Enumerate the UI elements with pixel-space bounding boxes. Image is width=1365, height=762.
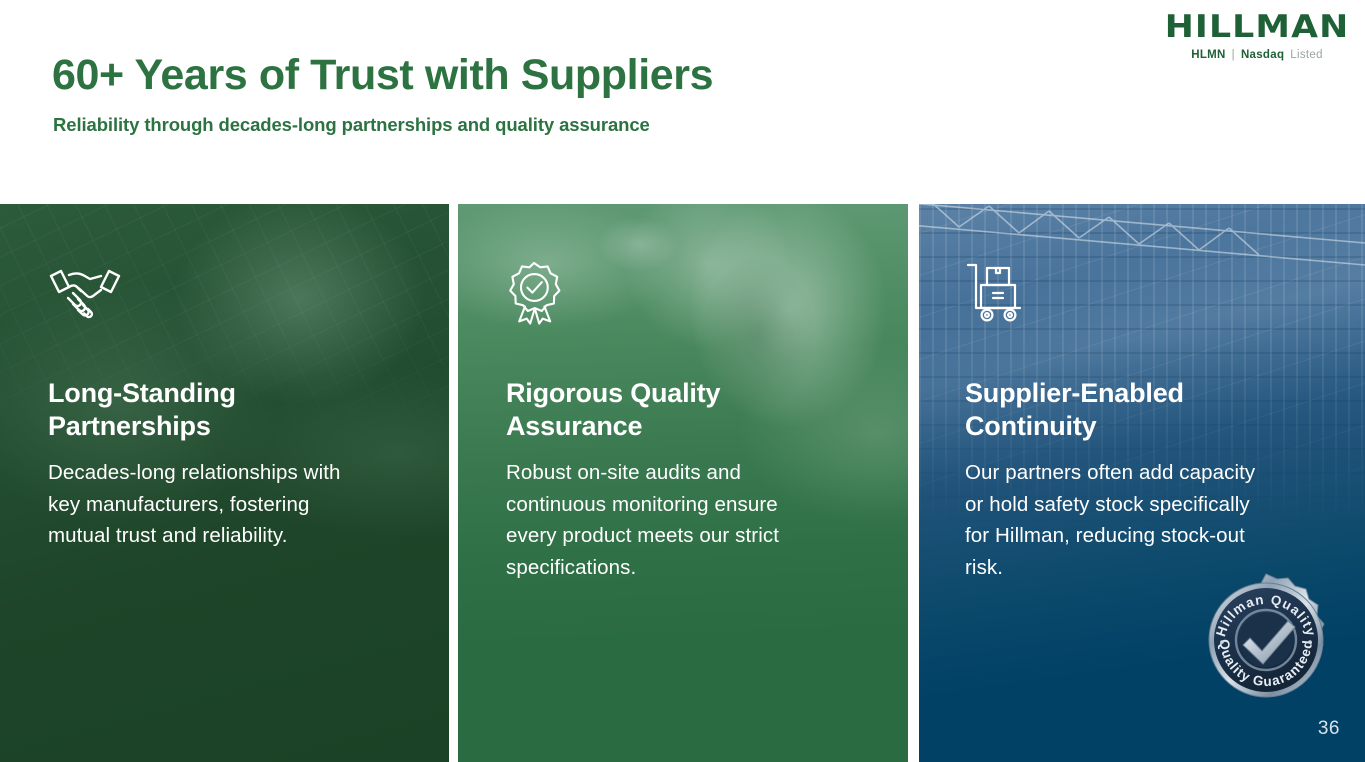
card-body-text: Decades-long relationships with key manu…: [48, 457, 348, 552]
quality-badge-icon: [506, 260, 562, 326]
card-title: Rigorous Quality Assurance: [506, 377, 836, 443]
card-body-text: Our partners often add capacity or hold …: [965, 457, 1265, 584]
page-subtitle: Reliability through decades-long partner…: [53, 114, 650, 136]
page-number: 36: [1318, 718, 1340, 740]
card-long-standing-partnerships[interactable]: Long-Standing Partnerships Decades-long …: [0, 204, 449, 762]
hillman-quality-seal: Hillman Quality Quality Guaranteed: [1196, 570, 1336, 710]
logo-wordmark: HILLMAN: [1145, 12, 1365, 43]
ticker-symbol: HLMN: [1191, 49, 1225, 61]
card-rigorous-quality-assurance[interactable]: Rigorous Quality Assurance Robust on-sit…: [458, 204, 908, 762]
card-title: Supplier-Enabled Continuity: [965, 377, 1295, 443]
seal-dot-left: [1220, 640, 1224, 644]
card-content: Long-Standing Partnerships Decades-long …: [0, 204, 449, 762]
cards-row: Long-Standing Partnerships Decades-long …: [0, 204, 1365, 762]
page-title: 60+ Years of Trust with Suppliers: [52, 52, 713, 99]
ticker-divider: |: [1232, 49, 1235, 61]
hillman-logo: HILLMAN HLMN | Nasdaq Listed: [1157, 12, 1357, 61]
handshake-icon: [48, 260, 122, 324]
slide: HILLMAN HLMN | Nasdaq Listed 60+ Years o…: [0, 0, 1365, 762]
exchange-name: Nasdaq: [1241, 49, 1284, 61]
card-body-text: Robust on-site audits and continuous mon…: [506, 457, 801, 584]
card-supplier-enabled-continuity[interactable]: Supplier-Enabled Continuity Our partners…: [919, 204, 1365, 762]
logo-ticker-line: HLMN | Nasdaq Listed: [1157, 49, 1357, 61]
seal-dot-right: [1308, 640, 1312, 644]
card-content: Rigorous Quality Assurance Robust on-sit…: [458, 204, 908, 762]
card-title: Long-Standing Partnerships: [48, 377, 378, 443]
exchange-listed-label: Listed: [1290, 49, 1323, 61]
hand-truck-boxes-icon: [965, 260, 1027, 322]
